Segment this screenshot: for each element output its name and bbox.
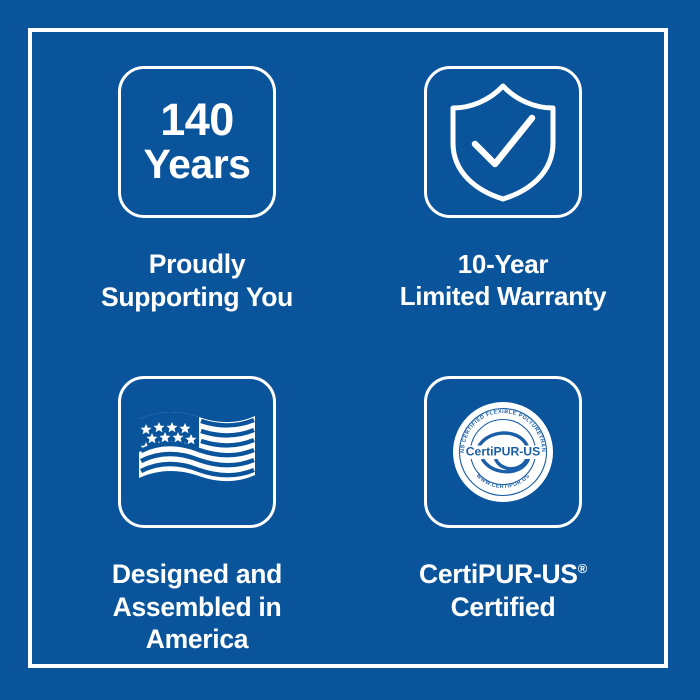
badge-made-in-america: Designed and Assembled in America bbox=[44, 314, 350, 657]
badge-certipur-caption: CertiPUR-US® Certified bbox=[419, 558, 587, 624]
years-number-text: 140 bbox=[160, 97, 234, 142]
badge-warranty-caption-line2: Limited Warranty bbox=[400, 280, 607, 312]
usa-flag-icon-box bbox=[118, 376, 276, 528]
badge-america-caption-line1: Designed and bbox=[112, 558, 282, 591]
years-badge-icon: 140 Years bbox=[118, 66, 276, 218]
badge-america-caption: Designed and Assembled in America bbox=[112, 558, 282, 657]
badge-certipur-caption-line1: CertiPUR-US® bbox=[419, 558, 587, 591]
badge-america-caption-line3: America bbox=[112, 623, 282, 656]
badge-certipur-caption-line2: Certified bbox=[419, 591, 587, 624]
badge-america-caption-line2: Assembled in bbox=[112, 591, 282, 624]
registered-trademark-icon: ® bbox=[578, 561, 587, 576]
certipur-us-seal-icon-box: CertiPUR-US CONTAINS CERTIFIED FLEXIBLE … bbox=[424, 376, 582, 528]
badge-certipur: CertiPUR-US CONTAINS CERTIFIED FLEXIBLE … bbox=[350, 314, 656, 657]
certipur-us-seal-icon: CertiPUR-US CONTAINS CERTIFIED FLEXIBLE … bbox=[453, 402, 553, 502]
badge-panel: 140 Years Proudly Supporting You 10-Year… bbox=[0, 0, 700, 700]
badge-years-caption-line1: Proudly bbox=[101, 248, 293, 281]
badge-years: 140 Years Proudly Supporting You bbox=[44, 44, 350, 314]
badge-warranty-caption-line1: 10-Year bbox=[400, 248, 607, 280]
usa-flag-icon bbox=[137, 409, 257, 495]
badge-certipur-caption-main: CertiPUR-US bbox=[419, 559, 578, 589]
badge-grid: 140 Years Proudly Supporting You 10-Year… bbox=[44, 44, 656, 656]
shield-check-icon bbox=[444, 81, 562, 203]
badge-warranty: 10-Year Limited Warranty bbox=[350, 44, 656, 314]
shield-check-icon-box bbox=[424, 66, 582, 218]
badge-years-caption: Proudly Supporting You bbox=[101, 248, 293, 314]
years-word-text: Years bbox=[144, 142, 251, 188]
badge-warranty-caption: 10-Year Limited Warranty bbox=[400, 248, 607, 312]
badge-years-caption-line2: Supporting You bbox=[101, 281, 293, 314]
certipur-seal-center-text: CertiPUR-US bbox=[466, 444, 541, 458]
